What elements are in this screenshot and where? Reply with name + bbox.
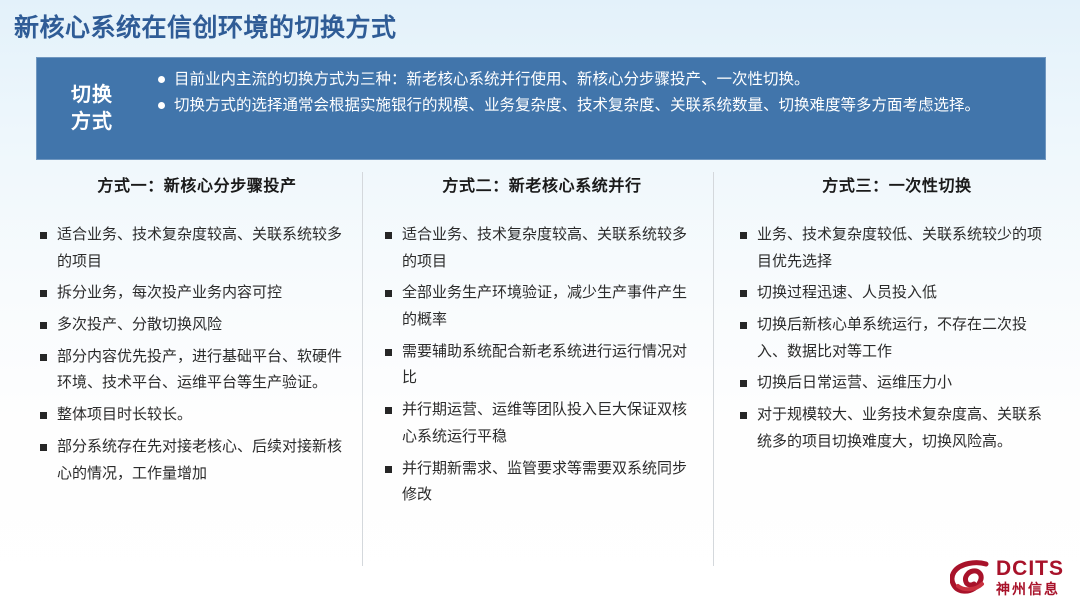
banner-body: 目前业内主流的切换方式为三种：新老核心系统并行使用、新核心分步骤投产、一次性切换… <box>148 57 1046 160</box>
banner-label: 切换 方式 <box>36 57 148 160</box>
logo-wordmark: DCITS 神州信息 <box>996 558 1064 596</box>
list-item: 全部业务生产环境验证，减少生产事件产生的概率 <box>385 280 699 333</box>
column-bullet-list: 适合业务、技术复杂度较高、关联系统较多的项目 拆分业务，每次投产业务内容可控 多… <box>40 222 354 487</box>
list-item: 适合业务、技术复杂度较高、关联系统较多的项目 <box>40 222 354 275</box>
list-item-text: 多次投产、分散切换风险 <box>57 312 354 339</box>
page-title: 新核心系统在信创环境的切换方式 <box>14 8 397 44</box>
banner-item-text: 切换方式的选择通常会根据实施银行的规模、业务复杂度、技术复杂度、关联系统数量、切… <box>174 93 1030 118</box>
square-bullet-icon <box>40 444 47 451</box>
square-bullet-icon <box>740 412 747 419</box>
square-bullet-icon <box>385 290 392 297</box>
company-logo: DCITS 神州信息 <box>950 558 1064 596</box>
list-item-text: 适合业务、技术复杂度较高、关联系统较多的项目 <box>57 222 354 275</box>
square-bullet-icon <box>740 322 747 329</box>
square-bullet-icon <box>740 232 747 239</box>
list-item-text: 切换后日常运营、运维压力小 <box>757 370 1054 397</box>
list-item: 并行期运营、运维等团队投入巨大保证双核心系统运行平稳 <box>385 397 699 450</box>
list-item: 切换过程迅速、人员投入低 <box>740 280 1054 307</box>
list-item: 切换后日常运营、运维压力小 <box>740 370 1054 397</box>
square-bullet-icon <box>385 466 392 473</box>
square-bullet-icon <box>385 349 392 356</box>
banner-item-text: 目前业内主流的切换方式为三种：新老核心系统并行使用、新核心分步骤投产、一次性切换… <box>174 67 1030 92</box>
square-bullet-icon <box>40 322 47 329</box>
square-bullet-icon <box>40 290 47 297</box>
list-item: 整体项目时长较长。 <box>40 402 354 429</box>
list-item: 需要辅助系统配合新老系统进行运行情况对比 <box>385 339 699 392</box>
list-item-text: 切换过程迅速、人员投入低 <box>757 280 1054 307</box>
list-item-text: 部分系统存在先对接老核心、后续对接新核心的情况，工作量增加 <box>57 434 354 487</box>
banner-bullet-item: 目前业内主流的切换方式为三种：新老核心系统并行使用、新核心分步骤投产、一次性切换… <box>158 67 1030 92</box>
column-method-three: 方式三：一次性切换 业务、技术复杂度较低、关联系统较少的项目优先选择 切换过程迅… <box>713 172 1062 566</box>
list-item: 业务、技术复杂度较低、关联系统较少的项目优先选择 <box>740 222 1054 275</box>
dot-bullet-icon <box>158 76 165 83</box>
list-item: 多次投产、分散切换风险 <box>40 312 354 339</box>
logo-chinese-text: 神州信息 <box>996 582 1064 596</box>
list-item: 切换后新核心单系统运行，不存在二次投入、数据比对等工作 <box>740 312 1054 365</box>
square-bullet-icon <box>385 407 392 414</box>
list-item-text: 切换后新核心单系统运行，不存在二次投入、数据比对等工作 <box>757 312 1054 365</box>
comparison-columns: 方式一：新核心分步骤投产 适合业务、技术复杂度较高、关联系统较多的项目 拆分业务… <box>18 172 1062 566</box>
list-item-text: 需要辅助系统配合新老系统进行运行情况对比 <box>402 339 699 392</box>
column-bullet-list: 适合业务、技术复杂度较高、关联系统较多的项目 全部业务生产环境验证，减少生产事件… <box>385 222 699 509</box>
square-bullet-icon <box>40 354 47 361</box>
list-item-text: 并行期运营、运维等团队投入巨大保证双核心系统运行平稳 <box>402 397 699 450</box>
square-bullet-icon <box>740 290 747 297</box>
list-item-text: 全部业务生产环境验证，减少生产事件产生的概率 <box>402 280 699 333</box>
banner-bullet-item: 切换方式的选择通常会根据实施银行的规模、业务复杂度、技术复杂度、关联系统数量、切… <box>158 93 1030 118</box>
dcits-swirl-icon <box>950 560 990 594</box>
list-item: 对于规模较大、业务技术复杂度高、关联系统多的项目切换难度大，切换风险高。 <box>740 402 1054 455</box>
logo-english-text: DCITS <box>996 557 1064 580</box>
list-item-text: 部分内容优先投产，进行基础平台、软硬件环境、技术平台、运维平台等生产验证。 <box>57 344 354 397</box>
column-method-one: 方式一：新核心分步骤投产 适合业务、技术复杂度较高、关联系统较多的项目 拆分业务… <box>18 172 362 566</box>
list-item-text: 并行期新需求、监管要求等需要双系统同步修改 <box>402 456 699 509</box>
column-title: 方式一：新核心分步骤投产 <box>40 172 354 196</box>
banner-label-line1: 切换 <box>71 82 113 109</box>
column-method-two: 方式二：新老核心系统并行 适合业务、技术复杂度较高、关联系统较多的项目 全部业务… <box>362 172 713 566</box>
summary-banner: 切换 方式 目前业内主流的切换方式为三种：新老核心系统并行使用、新核心分步骤投产… <box>36 57 1046 160</box>
list-item: 适合业务、技术复杂度较高、关联系统较多的项目 <box>385 222 699 275</box>
square-bullet-icon <box>385 232 392 239</box>
banner-label-line2: 方式 <box>71 109 113 136</box>
list-item-text: 整体项目时长较长。 <box>57 402 354 429</box>
list-item: 部分系统存在先对接老核心、后续对接新核心的情况，工作量增加 <box>40 434 354 487</box>
list-item-text: 适合业务、技术复杂度较高、关联系统较多的项目 <box>402 222 699 275</box>
list-item: 部分内容优先投产，进行基础平台、软硬件环境、技术平台、运维平台等生产验证。 <box>40 344 354 397</box>
list-item-text: 对于规模较大、业务技术复杂度高、关联系统多的项目切换难度大，切换风险高。 <box>757 402 1054 455</box>
square-bullet-icon <box>740 380 747 387</box>
square-bullet-icon <box>40 412 47 419</box>
list-item: 并行期新需求、监管要求等需要双系统同步修改 <box>385 456 699 509</box>
column-title: 方式二：新老核心系统并行 <box>385 172 699 196</box>
list-item-text: 拆分业务，每次投产业务内容可控 <box>57 280 354 307</box>
dot-bullet-icon <box>158 102 165 109</box>
column-bullet-list: 业务、技术复杂度较低、关联系统较少的项目优先选择 切换过程迅速、人员投入低 切换… <box>740 222 1054 456</box>
square-bullet-icon <box>40 232 47 239</box>
list-item: 拆分业务，每次投产业务内容可控 <box>40 280 354 307</box>
column-title: 方式三：一次性切换 <box>740 172 1054 196</box>
list-item-text: 业务、技术复杂度较低、关联系统较少的项目优先选择 <box>757 222 1054 275</box>
